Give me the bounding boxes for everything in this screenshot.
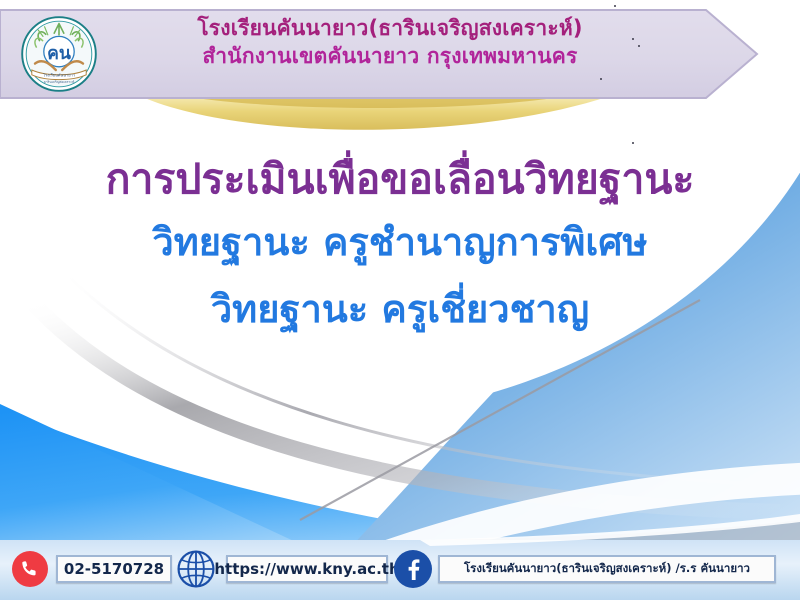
footer-phone-group: 02-5170728 [0, 551, 172, 587]
facebook-icon[interactable] [394, 550, 432, 588]
svg-text:คน: คน [47, 44, 71, 64]
website-url-text: https://www.kny.ac.th [214, 560, 399, 578]
slide-title-block: การประเมินเพื่อขอเลื่อนวิทยฐานะ วิทยฐานะ… [0, 150, 800, 338]
slide-title-secondary: วิทยฐานะ ครูชำนาญการพิเศษ [0, 214, 800, 271]
artifact-dot [638, 45, 640, 47]
artifact-dot [600, 78, 602, 80]
header-banner: คน โรงเรียนคันนายาว ธารินเจริญสงเคราะห์ … [0, 8, 760, 100]
globe-icon [174, 547, 218, 591]
svg-text:ธารินเจริญสงเคราะห์: ธารินเจริญสงเคราะห์ [44, 80, 75, 84]
school-crest-logo: คน โรงเรียนคันนายาว ธารินเจริญสงเคราะห์ [18, 14, 100, 94]
presentation-slide: คน โรงเรียนคันนายาว ธารินเจริญสงเคราะห์ … [0, 0, 800, 600]
header-district-name: สำนักงานเขตคันนายาว กรุงเทพมหานคร [110, 43, 670, 71]
footer-facebook-group: โรงเรียนคันนายาว(ธารินเจริญสงเคราะห์) /ร… [388, 550, 776, 588]
slide-title-tertiary: วิทยฐานะ ครูเชี่ยวชาญ [0, 281, 800, 338]
svg-text:โรงเรียนคันนายาว: โรงเรียนคันนายาว [43, 72, 75, 77]
slide-title-primary: การประเมินเพื่อขอเลื่อนวิทยฐานะ [0, 150, 800, 208]
footer-contact-bar: 02-5170728 https://www.kny.ac.th [0, 538, 800, 600]
header-school-name: โรงเรียนคันนายาว(ธารินเจริญสงเคราะห์) [110, 15, 670, 43]
artifact-dot [614, 5, 616, 7]
artifact-dot [632, 38, 634, 40]
phone-number-text: 02-5170728 [64, 560, 164, 578]
website-url-box[interactable]: https://www.kny.ac.th [226, 555, 388, 583]
header-title-group: โรงเรียนคันนายาว(ธารินเจริญสงเคราะห์) สำ… [110, 15, 670, 70]
phone-icon [12, 551, 48, 587]
facebook-page-text: โรงเรียนคันนายาว(ธารินเจริญสงเคราะห์) /ร… [464, 560, 750, 578]
artifact-dot [632, 142, 634, 144]
facebook-page-box[interactable]: โรงเรียนคันนายาว(ธารินเจริญสงเคราะห์) /ร… [438, 555, 776, 583]
footer-website-group: https://www.kny.ac.th [172, 547, 388, 591]
phone-number-box[interactable]: 02-5170728 [56, 555, 172, 583]
